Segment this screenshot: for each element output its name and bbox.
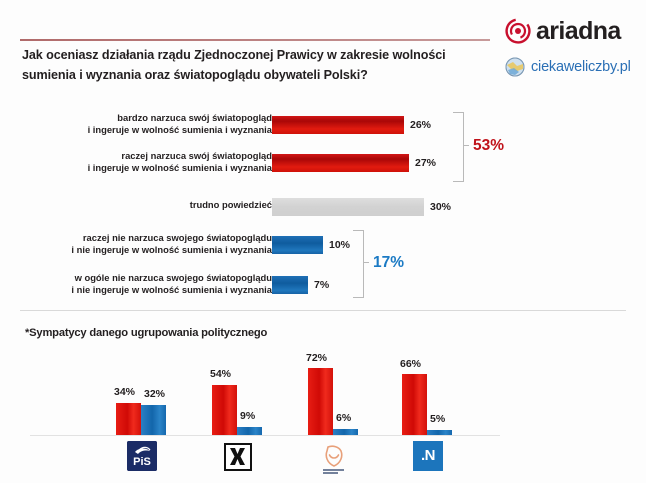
- bar-7: [272, 276, 308, 294]
- bracket-negative-tick: [463, 145, 469, 146]
- footnote-title: *Sympatycy danego ugrupowania polityczne…: [25, 327, 267, 339]
- bar-label: trudno powiedzieć: [40, 199, 272, 211]
- bar-26: [272, 116, 404, 134]
- party-group-po: 72% 6%: [308, 350, 360, 483]
- bracket-positive-tick: [363, 262, 369, 263]
- bar-label: raczej nie narzuca swojego światopoglądu…: [40, 232, 272, 257]
- page-title: Jak oceniasz działania rządu Zjednoczone…: [22, 46, 492, 85]
- party-value-blue: 5%: [430, 413, 445, 425]
- bar-label-line1: raczej nie narzuca swojego światopoglądu: [40, 232, 272, 244]
- bar-value: 26%: [410, 119, 431, 131]
- bar-label: raczej narzuca swój światopogląd i inger…: [40, 150, 272, 175]
- section-divider: [20, 310, 626, 311]
- bar-label-line1: w ogóle nie narzuca swojego światopogląd…: [40, 272, 272, 284]
- party-bar-red: [116, 403, 141, 435]
- bracket-negative: [453, 112, 464, 182]
- bar-value: 7%: [314, 279, 329, 291]
- bar-value: 27%: [415, 157, 436, 169]
- bar-label: bardzo narzuca swój światopogląd i inger…: [40, 112, 272, 137]
- bar-10: [272, 236, 323, 254]
- bar-label-line1: bardzo narzuca swój światopogląd: [40, 112, 272, 124]
- party-value-blue: 6%: [336, 412, 351, 424]
- opinion-bar-chart: bardzo narzuca swój światopogląd i inger…: [0, 104, 646, 300]
- pis-logo-icon: PiS: [127, 441, 157, 471]
- konfederacja-logo-icon: [224, 443, 252, 471]
- bar-label-line2: i nie ingeruje w wolność sumienia i wyzn…: [40, 244, 272, 256]
- ariadna-wordmark: ariadna: [536, 19, 621, 44]
- party-value-red: 54%: [210, 368, 231, 380]
- ciekaweliczby-brand[interactable]: ciekaweliczby.pl: [505, 57, 631, 77]
- party-value-blue: 9%: [240, 410, 255, 422]
- group-total-positive: 17%: [373, 254, 404, 272]
- party-value-red: 34%: [114, 386, 135, 398]
- nowoczesna-logo-text: .N: [413, 447, 443, 464]
- party-bar-blue: [333, 429, 358, 435]
- party-bar-red: [212, 385, 237, 435]
- bar-label-line2: i ingeruje w wolność sumienia i wyznania: [40, 162, 272, 174]
- bar-value: 30%: [430, 201, 451, 213]
- party-bar-blue: [141, 405, 166, 435]
- bar-label-line1: raczej narzuca swój światopogląd: [40, 150, 272, 162]
- bar-label-line2: i ingeruje w wolność sumienia i wyznania: [40, 124, 272, 136]
- nowoczesna-logo-icon: .N: [413, 441, 443, 471]
- party-support-chart: 34% 32% PiS 54% 9%: [0, 350, 646, 483]
- ciekaweliczby-wordmark: ciekaweliczby.pl: [531, 60, 631, 75]
- party-value-red: 72%: [306, 352, 327, 364]
- party-value-red: 66%: [400, 358, 421, 370]
- globe-icon: [505, 57, 525, 77]
- party-group-konfederacja: 54% 9%: [212, 350, 264, 483]
- infographic-page: Jak oceniasz działania rządu Zjednoczone…: [0, 0, 646, 483]
- party-bar-red: [308, 368, 333, 435]
- party-group-nowoczesna: 66% 5% .N: [402, 350, 454, 483]
- bar-value: 10%: [329, 239, 350, 251]
- party-bar-blue: [427, 430, 452, 435]
- svg-text:PiS: PiS: [133, 456, 151, 468]
- party-group-pis: 34% 32% PiS: [116, 350, 168, 483]
- group-total-negative: 53%: [473, 137, 504, 155]
- bar-30: [272, 198, 424, 216]
- ariadna-brand: ariadna: [505, 18, 621, 44]
- bracket-positive: [353, 230, 364, 298]
- header-divider: [20, 39, 490, 41]
- bar-27: [272, 154, 409, 172]
- party-value-blue: 32%: [144, 388, 165, 400]
- bar-label-line2: i nie ingeruje w wolność sumienia i wyzn…: [40, 284, 272, 296]
- party-bar-red: [402, 374, 427, 435]
- party-bar-blue: [237, 427, 262, 435]
- bar-label-line1: trudno powiedzieć: [40, 199, 272, 211]
- ariadna-spiral-icon: [505, 18, 531, 44]
- platforma-obywatelska-logo-icon: [317, 444, 351, 474]
- bar-label: w ogóle nie narzuca swojego światopogląd…: [40, 272, 272, 297]
